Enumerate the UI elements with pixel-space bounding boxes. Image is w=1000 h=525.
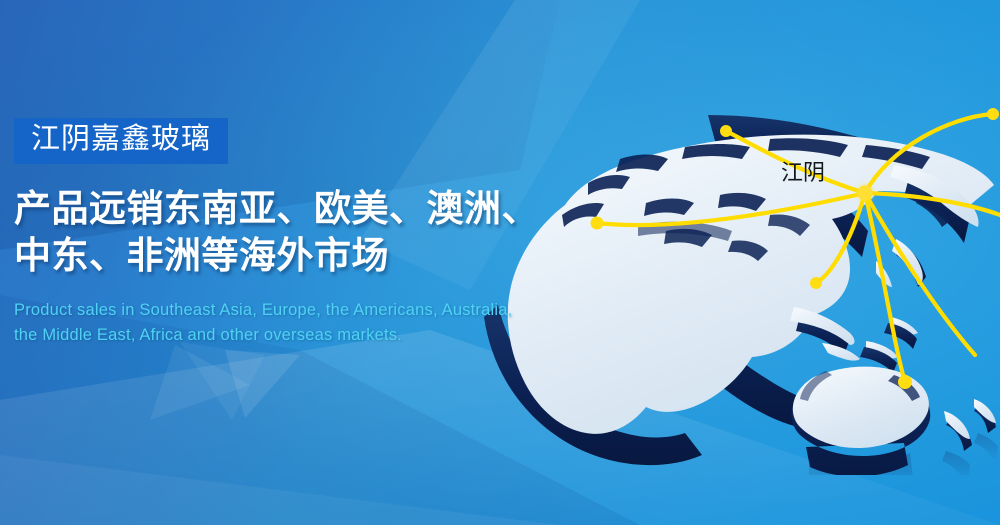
node-southeast [810, 277, 822, 289]
subtitle: Product sales in Southeast Asia, Europe,… [14, 298, 574, 349]
company-badge: 江阴嘉鑫玻璃 [14, 118, 228, 164]
headline-line-1: 产品远销东南亚、欧美、澳洲、 [14, 186, 574, 233]
landmass-australia [791, 367, 998, 475]
hub-node [858, 186, 873, 201]
node-northeast [987, 108, 999, 120]
page-title: 产品远销东南亚、欧美、澳洲、 中东、非洲等海外市场 [14, 186, 574, 279]
promo-banner: 江阴 江阴嘉鑫玻璃 产品远销东南亚、欧美、澳洲、 中东、非洲等海外市场 Prod… [0, 0, 1000, 525]
headline-line-2: 中东、非洲等海外市场 [14, 233, 574, 280]
node-europe-north [720, 125, 732, 137]
subtitle-line-1: Product sales in Southeast Asia, Europe,… [14, 298, 574, 324]
node-australia [898, 375, 912, 389]
hub-label: 江阴 [781, 160, 825, 185]
copy-block: 江阴嘉鑫玻璃 产品远销东南亚、欧美、澳洲、 中东、非洲等海外市场 Product… [14, 118, 574, 349]
subtitle-line-2: the Middle East, Africa and other overse… [14, 323, 574, 349]
company-badge-label: 江阴嘉鑫玻璃 [31, 124, 211, 155]
node-americas [591, 217, 604, 230]
